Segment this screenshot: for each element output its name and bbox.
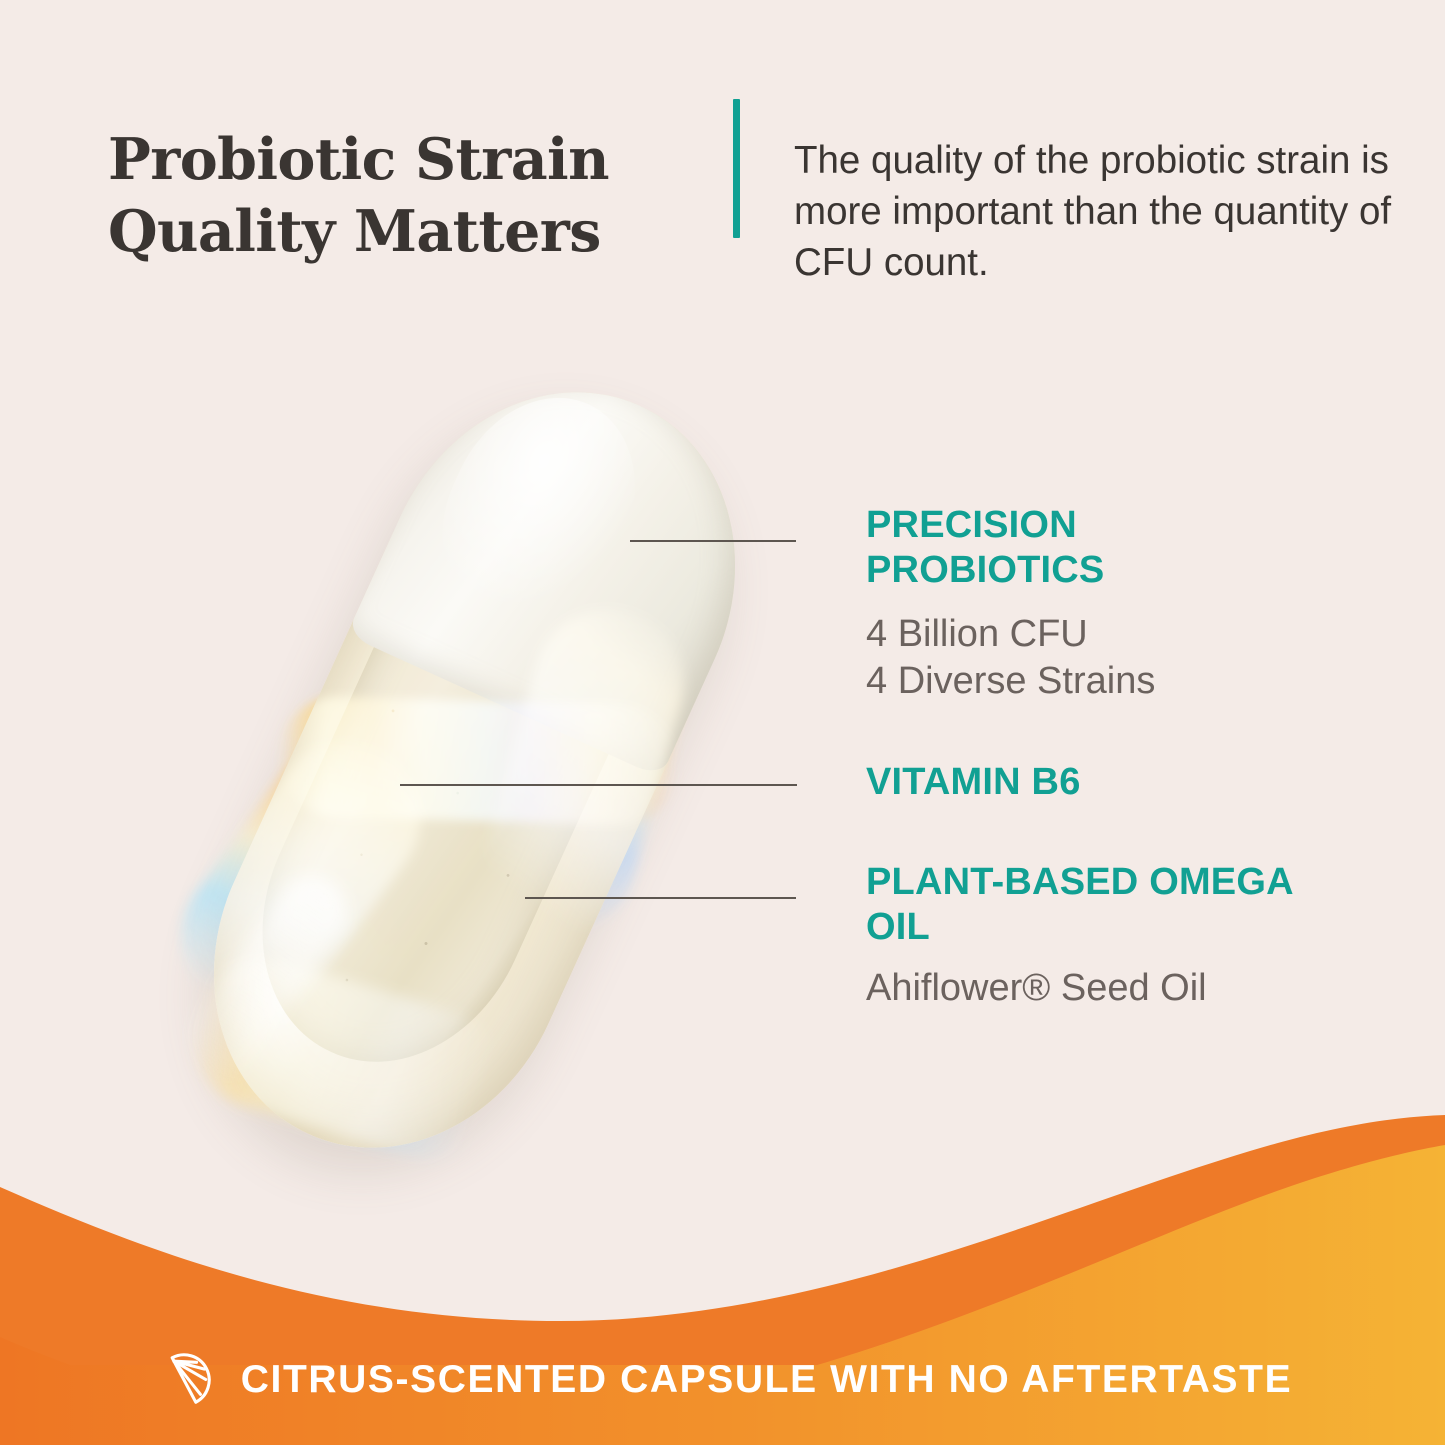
leader-line-omega-oil xyxy=(525,897,796,899)
banner-content: CITRUS-SCENTED CAPSULE WITH NO AFTERTAST… xyxy=(0,1315,1445,1445)
headline-line-1: Probiotic Strain xyxy=(108,126,609,193)
gel-capsule-graphic xyxy=(152,334,798,1205)
callout-title-vitamin-b6: VITAMIN B6 xyxy=(866,760,1326,805)
page-title: Probiotic Strain Quality Matters xyxy=(108,124,708,268)
callout-title-precision-probiotics: PRECISION PROBIOTICS xyxy=(866,503,1326,593)
subheading-text: The quality of the probiotic strain is m… xyxy=(794,135,1414,289)
citrus-slice-icon xyxy=(153,1349,215,1411)
headline-line-2: Quality Matters xyxy=(108,196,708,268)
product-image xyxy=(150,340,870,1200)
callout-title-plant-based-omega-oil: PLANT-BASED OMEGA OIL xyxy=(866,860,1326,950)
banner-text: CITRUS-SCENTED CAPSULE WITH NO AFTERTAST… xyxy=(241,1358,1292,1402)
callout-body-precision-probiotics: 4 Billion CFU 4 Diverse Strains xyxy=(866,611,1326,705)
leader-line-precision-probiotics xyxy=(630,540,796,542)
product-infographic: Probiotic Strain Quality Matters The qua… xyxy=(0,0,1445,1445)
leader-line-vitamin-b6 xyxy=(400,784,797,786)
vertical-divider xyxy=(733,99,740,238)
callout-body-ahiflower-seed-oil: Ahiflower® Seed Oil xyxy=(866,965,1336,1012)
callout-body-line-strains: 4 Diverse Strains xyxy=(866,658,1326,705)
header-section: Probiotic Strain Quality Matters The qua… xyxy=(0,0,1445,280)
callout-body-line-cfu: 4 Billion CFU xyxy=(866,611,1326,658)
